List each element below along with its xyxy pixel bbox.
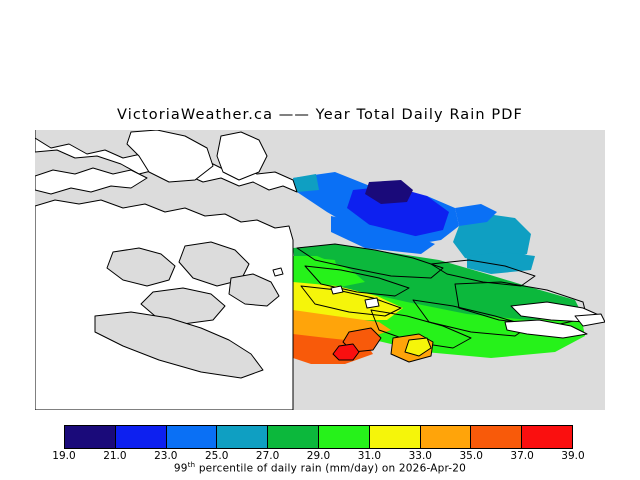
colorbar-segment-33.0-35.0: [421, 426, 472, 448]
island-tiny-2: [365, 298, 379, 308]
colorbar-segment-23.0-25.0: [167, 426, 218, 448]
colorbar-segment-29.0-31.0: [319, 426, 370, 448]
caption-text: percentile of daily rain (mm/day) on 202…: [195, 463, 466, 475]
colorbar: [64, 425, 573, 449]
colorbar-segment-37.0-39.0: [522, 426, 572, 448]
colorbar-segment-31.0-33.0: [370, 426, 421, 448]
colorbar-segment-25.0-27.0: [217, 426, 268, 448]
caption-percentile-number: 99: [174, 463, 188, 475]
colorbar-caption: 99th percentile of daily rain (mm/day) o…: [0, 461, 640, 475]
colorbar-segment-19.0-21.0: [65, 426, 116, 448]
weather-map-figure: VictoriaWeather.ca —— Year Total Daily R…: [0, 0, 640, 480]
island-tiny-1: [331, 286, 343, 294]
page-title: VictoriaWeather.ca —— Year Total Daily R…: [0, 107, 640, 123]
colorbar-wrap: [64, 425, 573, 449]
map-plot-area: [35, 130, 605, 410]
colorbar-segment-21.0-23.0: [116, 426, 167, 448]
island-tiny-3: [273, 268, 283, 276]
colorbar-segment-27.0-29.0: [268, 426, 319, 448]
map-svg: [35, 130, 605, 410]
colorbar-segment-35.0-37.0: [471, 426, 522, 448]
